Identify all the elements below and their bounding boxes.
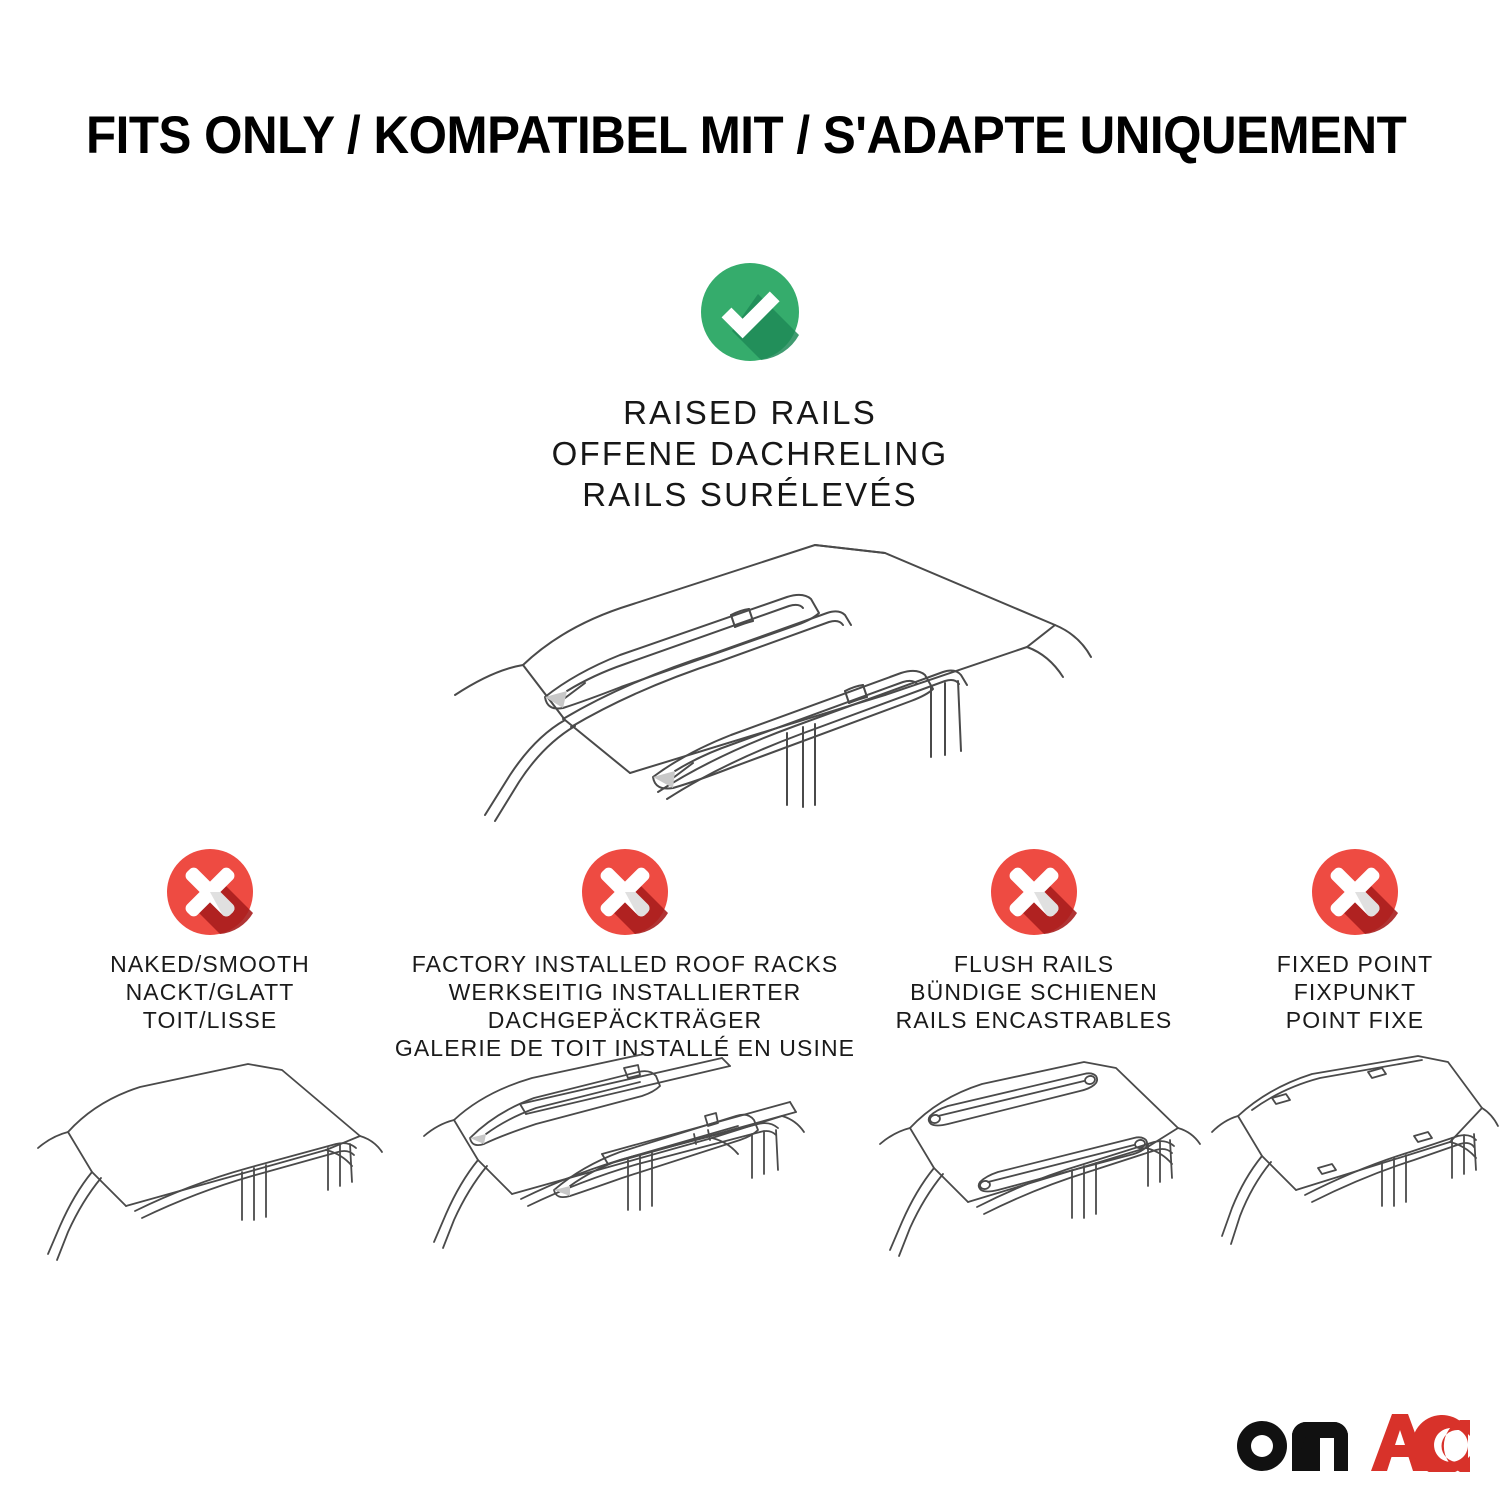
incompatible-label-de-2: DACHGEPÄCKTRÄGER bbox=[392, 1006, 858, 1034]
cross-circle-icon bbox=[579, 846, 671, 938]
incompatible-label-fr: POINT FIXE bbox=[1210, 1006, 1500, 1034]
cross-circle-icon bbox=[164, 846, 256, 938]
incompatible-section: NAKED/SMOOTH NACKT/GLATT TOIT/LISSE bbox=[0, 846, 1500, 1486]
incompatible-label-fr: TOIT/LISSE bbox=[30, 1006, 390, 1034]
incompatible-labels: FIXED POINT FIXPUNKT POINT FIXE bbox=[1210, 950, 1500, 1034]
car-roof-with-raised-rails-illustration bbox=[415, 505, 1095, 835]
incompatible-label-de: BÜNDIGE SCHIENEN bbox=[858, 978, 1210, 1006]
cross-circle-icon bbox=[1309, 846, 1401, 938]
incompatible-label-de: FIXPUNKT bbox=[1210, 978, 1500, 1006]
compatible-label-en: RAISED RAILS bbox=[0, 392, 1500, 433]
omac-logo bbox=[1232, 1410, 1470, 1472]
page-title: FITS ONLY / KOMPATIBEL MIT / S'ADAPTE UN… bbox=[86, 108, 1332, 164]
incompatible-labels: NAKED/SMOOTH NACKT/GLATT TOIT/LISSE bbox=[30, 950, 390, 1034]
incompatible-item-flush-rails: FLUSH RAILS BÜNDIGE SCHIENEN RAILS ENCAS… bbox=[858, 846, 1210, 1034]
compatible-section: RAISED RAILS OFFENE DACHRELING RAILS SUR… bbox=[0, 258, 1500, 515]
cross-circle-icon bbox=[988, 846, 1080, 938]
compatible-label-de: OFFENE DACHRELING bbox=[0, 433, 1500, 474]
incompatible-labels: FACTORY INSTALLED ROOF RACKS WERKSEITIG … bbox=[392, 950, 858, 1062]
incompatible-label-fr: RAILS ENCASTRABLES bbox=[858, 1006, 1210, 1034]
incompatible-label-en: NAKED/SMOOTH bbox=[30, 950, 390, 978]
compatible-labels: RAISED RAILS OFFENE DACHRELING RAILS SUR… bbox=[0, 392, 1500, 515]
incompatible-label-de: NACKT/GLATT bbox=[30, 978, 390, 1006]
car-roof-flush-rails-illustration bbox=[858, 1054, 1210, 1284]
check-circle-icon bbox=[696, 258, 804, 366]
incompatible-label-en: FIXED POINT bbox=[1210, 950, 1500, 978]
incompatible-label-en: FACTORY INSTALLED ROOF RACKS bbox=[392, 950, 858, 978]
incompatible-item-fixed-point: FIXED POINT FIXPUNKT POINT FIXE bbox=[1210, 846, 1500, 1034]
car-roof-factory-roof-racks-illustration bbox=[392, 1054, 858, 1284]
car-roof-fixed-point-illustration bbox=[1210, 1054, 1500, 1284]
incompatible-item-factory-roof-racks: FACTORY INSTALLED ROOF RACKS WERKSEITIG … bbox=[392, 846, 858, 1062]
incompatible-label-de-1: WERKSEITIG INSTALLIERTER bbox=[392, 978, 858, 1006]
incompatible-label-en: FLUSH RAILS bbox=[858, 950, 1210, 978]
car-roof-naked-smooth-illustration bbox=[30, 1054, 390, 1284]
incompatible-labels: FLUSH RAILS BÜNDIGE SCHIENEN RAILS ENCAS… bbox=[858, 950, 1210, 1034]
incompatible-item-naked-smooth: NAKED/SMOOTH NACKT/GLATT TOIT/LISSE bbox=[30, 846, 390, 1034]
